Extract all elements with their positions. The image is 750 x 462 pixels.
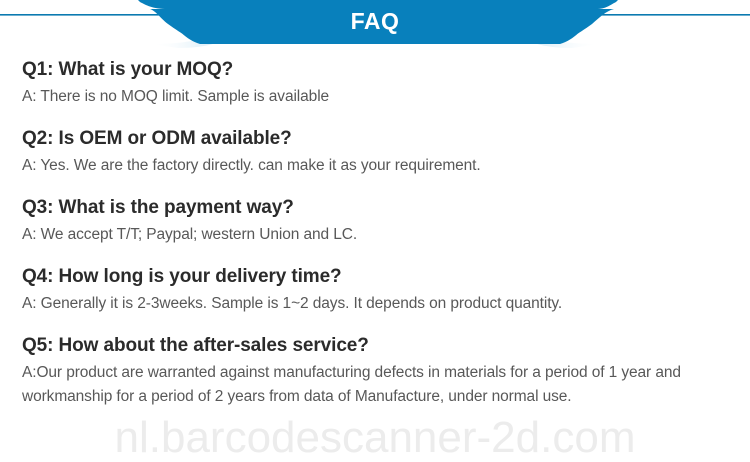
faq-list: Q1: What is your MOQ? A: There is no MOQ… (22, 57, 736, 409)
faq-question: Q3: What is the payment way? (22, 195, 736, 220)
faq-question: Q5: How about the after-sales service? (22, 333, 736, 358)
faq-item-1: Q1: What is your MOQ? A: There is no MOQ… (22, 57, 736, 109)
faq-item-4: Q4: How long is your delivery time? A: G… (22, 264, 736, 316)
faq-item-3: Q3: What is the payment way? A: We accep… (22, 195, 736, 247)
faq-answer: A: Generally it is 2-3weeks. Sample is 1… (22, 292, 736, 316)
faq-question: Q4: How long is your delivery time? (22, 264, 736, 289)
faq-item-5: Q5: How about the after-sales service? A… (22, 333, 736, 409)
faq-question: Q2: Is OEM or ODM available? (22, 126, 736, 151)
page-title: FAQ (0, 0, 750, 44)
faq-answer: A:Our product are warranted against manu… (22, 361, 736, 409)
faq-item-2: Q2: Is OEM or ODM available? A: Yes. We … (22, 126, 736, 178)
faq-answer: A: We accept T/T; Paypal; western Union … (22, 223, 736, 247)
faq-answer: A: Yes. We are the factory directly. can… (22, 154, 736, 178)
faq-answer: A: There is no MOQ limit. Sample is avai… (22, 85, 736, 109)
site-watermark: nl.barcodescanner-2d.com (0, 414, 750, 462)
faq-question: Q1: What is your MOQ? (22, 57, 736, 82)
faq-header-banner: FAQ (0, 0, 750, 50)
